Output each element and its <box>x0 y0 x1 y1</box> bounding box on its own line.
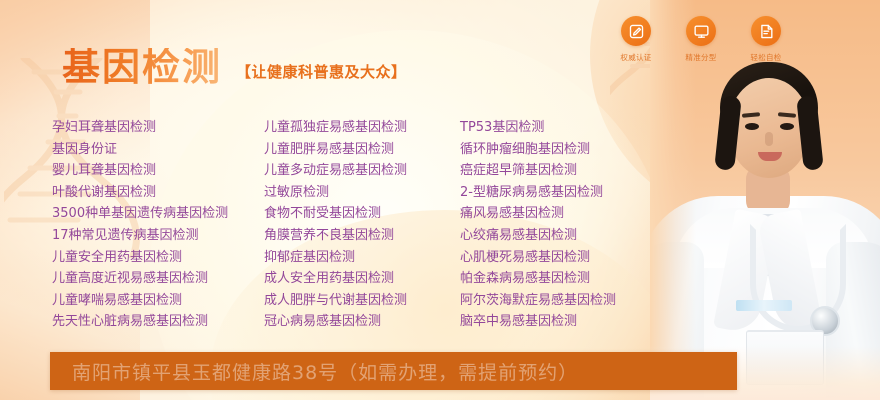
test-items-area: 孕妇耳聋基因检测 基因身份证 婴儿耳聋基因检测 叶酸代谢基因检测 3500种单基… <box>52 117 692 333</box>
list-item: 循环肿瘤细胞基因检测 <box>460 139 690 161</box>
list-item: 儿童肥胖易感基因检测 <box>264 139 460 161</box>
list-item: 儿童安全用药基因检测 <box>52 247 264 269</box>
test-column-2: 儿童孤独症易感基因检测 儿童肥胖易感基因检测 儿童多动症易感基因检测 过敏原检测… <box>264 117 460 333</box>
list-item: 癌症超早筛基因检测 <box>460 160 690 182</box>
list-item: 帕金森病易感基因检测 <box>460 268 690 290</box>
gene-testing-poster: 基因检测 【让健康科普惠及大众】 权威认证 精准分型 <box>0 0 880 400</box>
feature-badges: 权威认证 精准分型 轻松自检 <box>614 16 788 63</box>
list-item: TP53基因检测 <box>460 117 690 139</box>
list-item: 冠心病易感基因检测 <box>264 311 460 333</box>
badge-label-2: 精准分型 <box>685 52 716 63</box>
badge-authoritative-certification[interactable]: 权威认证 <box>614 16 658 63</box>
list-item: 成人肥胖与代谢基因检测 <box>264 290 460 312</box>
badge-icon-wrap-3 <box>751 16 781 46</box>
report-document-icon <box>758 23 775 40</box>
test-column-3: TP53基因检测 循环肿瘤细胞基因检测 癌症超早筛基因检测 2-型糖尿病易感基因… <box>460 117 690 333</box>
doctor-eye-left <box>745 123 759 130</box>
list-item: 阿尔茨海默症易感基因检测 <box>460 290 690 312</box>
badge-easy-self-check[interactable]: 轻松自检 <box>744 16 788 63</box>
doctor-nose <box>765 132 773 146</box>
monitor-screen-icon <box>693 23 710 40</box>
badge-icon-wrap-2 <box>686 16 716 46</box>
badge-label-1: 权威认证 <box>620 52 651 63</box>
list-item: 17种常见遗传病基因检测 <box>52 225 264 247</box>
doctor-name-badge <box>736 300 792 311</box>
list-item: 心绞痛易感基因检测 <box>460 225 690 247</box>
list-item: 痛风易感基因检测 <box>460 203 690 225</box>
page-subtitle: 【让健康科普惠及大众】 <box>236 61 407 82</box>
list-item: 2-型糖尿病易感基因检测 <box>460 182 690 204</box>
list-item: 叶酸代谢基因检测 <box>52 182 264 204</box>
list-item: 儿童多动症易感基因检测 <box>264 160 460 182</box>
list-item: 儿童孤独症易感基因检测 <box>264 117 460 139</box>
list-item: 食物不耐受基因检测 <box>264 203 460 225</box>
badge-precise-typing[interactable]: 精准分型 <box>679 16 723 63</box>
test-column-1: 孕妇耳聋基因检测 基因身份证 婴儿耳聋基因检测 叶酸代谢基因检测 3500种单基… <box>52 117 264 333</box>
list-item: 3500种单基因遗传病基因检测 <box>52 203 264 225</box>
address-banner: 南阳市镇平县玉都健康路38号（如需办理，需提前预约） <box>50 352 737 390</box>
list-item: 儿童高度近视易感基因检测 <box>52 268 264 290</box>
test-items-columns: 孕妇耳聋基因检测 基因身份证 婴儿耳聋基因检测 叶酸代谢基因检测 3500种单基… <box>52 117 692 333</box>
list-item: 角膜营养不良基因检测 <box>264 225 460 247</box>
address-banner-text: 南阳市镇平县玉都健康路38号（如需办理，需提前预约） <box>50 358 578 385</box>
page-title: 基因检测 <box>62 48 222 86</box>
list-item: 婴儿耳聋基因检测 <box>52 160 264 182</box>
list-item: 成人安全用药基因检测 <box>264 268 460 290</box>
list-item: 先天性心脏病易感基因检测 <box>52 311 264 333</box>
list-item: 心肌梗死易感基因检测 <box>460 247 690 269</box>
list-item: 儿童哮喘易感基因检测 <box>52 290 264 312</box>
list-item: 孕妇耳聋基因检测 <box>52 117 264 139</box>
list-item: 基因身份证 <box>52 139 264 161</box>
badge-label-3: 轻松自检 <box>750 52 781 63</box>
badge-icon-wrap-1 <box>621 16 651 46</box>
list-item: 抑郁症基因检测 <box>264 247 460 269</box>
doctor-eye-right <box>780 123 794 130</box>
list-item: 过敏原检测 <box>264 182 460 204</box>
list-item: 脑卒中易感基因检测 <box>460 311 690 333</box>
certificate-pen-icon <box>628 23 645 40</box>
doctor-face <box>728 78 810 178</box>
title-block: 基因检测 【让健康科普惠及大众】 <box>62 48 407 86</box>
